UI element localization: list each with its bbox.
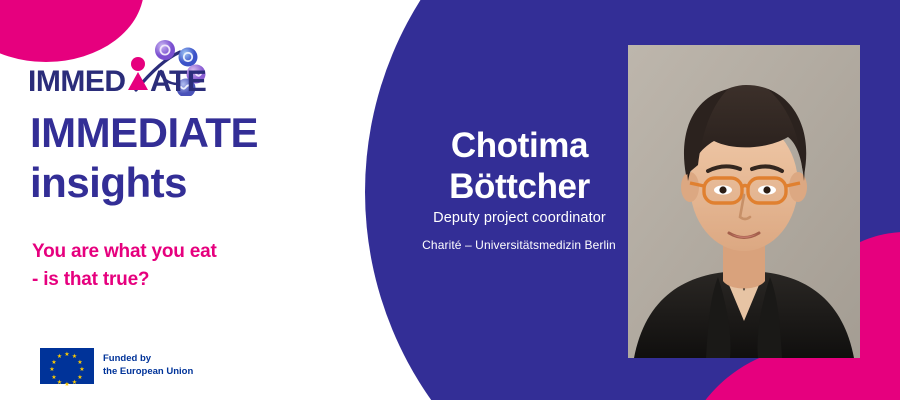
speaker-role: Deputy project coordinator: [402, 210, 637, 226]
episode-subtitle: You are what you eat - is that true?: [32, 238, 362, 293]
eu-funding-badge: ★ ★ ★ ★ ★ ★ ★ ★ ★ ★ ★ ★ Funded by the Eu…: [40, 348, 193, 384]
headline-line-2: insights: [30, 158, 370, 208]
speaker-organisation: Charité – Universitätsmedizin Berlin: [396, 238, 642, 252]
eu-funding-text: Funded by the European Union: [103, 353, 193, 378]
immediate-logo: IMMED ATE: [28, 38, 213, 96]
eu-funding-line-1: Funded by: [103, 353, 151, 364]
page-title: IMMEDIATE insights: [30, 108, 370, 207]
speaker-name: Chotima Böttcher: [412, 126, 627, 208]
svg-text:IMMED: IMMED: [28, 65, 126, 96]
eu-funding-line-2: the European Union: [103, 366, 193, 379]
speaker-first-name: Chotima: [451, 126, 588, 165]
eu-flag-icon: ★ ★ ★ ★ ★ ★ ★ ★ ★ ★ ★ ★: [40, 348, 94, 384]
svg-text:ATE: ATE: [150, 65, 206, 96]
subtitle-line-1: You are what you eat: [32, 241, 217, 262]
speaker-portrait-photo: [628, 45, 860, 358]
headline-line-1: IMMEDIATE: [30, 109, 258, 156]
subtitle-line-2: - is that true?: [32, 266, 362, 294]
immediate-insights-banner: IMMED ATE IMMEDIATE insights You are wha…: [0, 0, 900, 400]
speaker-last-name: Böttcher: [412, 167, 627, 208]
